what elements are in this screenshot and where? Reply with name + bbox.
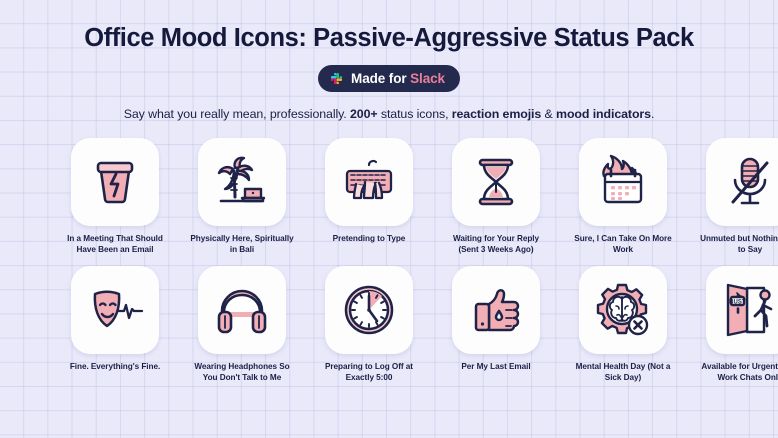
icon-card[interactable]: Waiting for Your Reply (Sent 3 Weeks Ago… (443, 138, 549, 255)
icon-tile[interactable] (452, 138, 540, 226)
icon-card[interactable]: Unmuted but Nothing Left to Say (697, 138, 778, 255)
icon-tile[interactable] (198, 138, 286, 226)
smiling-mask-heartbeat-icon (85, 280, 145, 340)
icon-caption: Per My Last Email (443, 361, 549, 372)
icon-caption: Wearing Headphones So You Don't Talk to … (189, 361, 295, 383)
icon-caption: Fine. Everything's Fine. (62, 361, 168, 372)
made-for-slack-badge[interactable]: Made for Slack (318, 65, 460, 92)
icon-caption: Preparing to Log Off at Exactly 5:00 (316, 361, 422, 383)
poster-page: Office Mood Icons: Passive-Aggressive St… (0, 0, 778, 438)
wall-clock-five-oclock-icon (339, 280, 399, 340)
icon-card[interactable]: Mental Health Day (Not a Sick Day) (570, 266, 676, 383)
icon-tile[interactable] (579, 266, 667, 354)
hourglass-icon (466, 152, 526, 212)
icon-tile[interactable]: BUSY (706, 266, 778, 354)
palm-tree-laptop-icon (212, 152, 272, 212)
icon-card[interactable]: Per My Last Email (443, 266, 549, 383)
icon-tile[interactable] (325, 266, 413, 354)
icon-tile[interactable] (71, 138, 159, 226)
badge-label: Made for Slack (351, 71, 445, 86)
icon-caption: Sure, I Can Take On More Work (570, 233, 676, 255)
badge-brand: Slack (410, 71, 445, 86)
icon-tile[interactable] (452, 266, 540, 354)
icon-card[interactable]: BUSY Available for Urgent Non-Work Chats… (697, 266, 778, 383)
door-busy-sign-walking-icon: BUSY (720, 280, 778, 340)
subtitle-part-3: & (541, 107, 556, 121)
icon-card[interactable]: Preparing to Log Off at Exactly 5:00 (316, 266, 422, 383)
badge-prefix: Made for (351, 71, 410, 86)
subtitle-part-2: status icons, (378, 107, 452, 121)
brain-gear-x-icon (593, 280, 653, 340)
slack-logo-icon (329, 71, 344, 86)
thumbs-up-sweat-icon (466, 280, 526, 340)
burning-calendar-icon (593, 152, 653, 212)
subtitle-bold-count: 200+ (350, 107, 378, 121)
icon-caption: Available for Urgent Non-Work Chats Only (697, 361, 778, 383)
icon-caption: Pretending to Type (316, 233, 422, 244)
icon-tile[interactable] (579, 138, 667, 226)
icon-card[interactable]: Sure, I Can Take On More Work (570, 138, 676, 255)
icon-card[interactable]: In a Meeting That Should Have Been an Em… (62, 138, 168, 255)
icon-tile[interactable] (71, 266, 159, 354)
icon-card[interactable]: Wearing Headphones So You Don't Talk to … (189, 266, 295, 383)
coffee-cup-cracked-icon (85, 152, 145, 212)
icon-card[interactable]: Pretending to Type (316, 138, 422, 255)
icon-tile[interactable] (706, 138, 778, 226)
icon-caption: Physically Here, Spiritually in Bali (189, 233, 295, 255)
svg-text:BUSY: BUSY (729, 299, 746, 305)
icon-caption: Mental Health Day (Not a Sick Day) (570, 361, 676, 383)
icon-card[interactable]: Physically Here, Spiritually in Bali (189, 138, 295, 255)
subtitle: Say what you really mean, professionally… (124, 107, 655, 121)
keyboard-hands-icon (339, 152, 399, 212)
subtitle-bold-emojis: reaction emojis (452, 107, 541, 121)
muted-microphone-icon (720, 152, 778, 212)
subtitle-bold-indicators: mood indicators (556, 107, 651, 121)
page-title: Office Mood Icons: Passive-Aggressive St… (84, 24, 694, 53)
icon-tile[interactable] (198, 266, 286, 354)
icon-grid: In a Meeting That Should Have Been an Em… (62, 138, 716, 383)
subtitle-part-4: . (651, 107, 654, 121)
icon-caption: Unmuted but Nothing Left to Say (697, 233, 778, 255)
icon-tile[interactable] (325, 138, 413, 226)
icon-caption: In a Meeting That Should Have Been an Em… (62, 233, 168, 255)
icon-card[interactable]: Fine. Everything's Fine. (62, 266, 168, 383)
subtitle-part-1: Say what you really mean, professionally… (124, 107, 350, 121)
icon-caption: Waiting for Your Reply (Sent 3 Weeks Ago… (443, 233, 549, 255)
headphones-icon (212, 280, 272, 340)
